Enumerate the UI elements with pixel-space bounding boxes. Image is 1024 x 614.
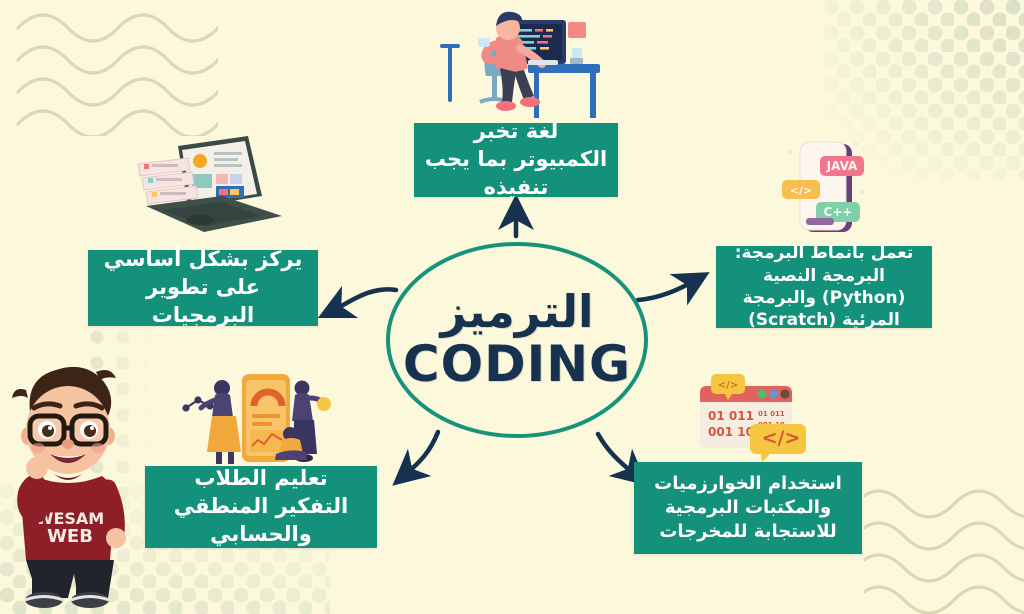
arrow-to-bottom-left: [406, 432, 438, 474]
arrow-to-left: [334, 289, 396, 310]
node-label-top[interactable]: لغة تخبر الكمبيوتر بما يجب تنفيذه: [414, 123, 618, 197]
tag-java: JAVA: [820, 156, 864, 176]
arrow-to-bottom-right: [598, 434, 634, 474]
infographic-canvas: الترميز CODING لغة تخبر الكمبيوتر بما يج…: [0, 0, 1024, 614]
binary-code-window-illustration: 01 011 001 10 01 011 001 10 </> </>: [686, 370, 816, 462]
svg-text:001 10: 001 10: [708, 425, 754, 439]
center-node-coding: الترميز CODING: [386, 242, 648, 438]
svg-text:WEB: WEB: [47, 526, 93, 547]
svg-text:</>: </>: [790, 184, 812, 197]
center-title-arabic: الترميز: [441, 289, 594, 334]
svg-text:JAVA: JAVA: [826, 159, 858, 173]
svg-text:01 011: 01 011: [758, 410, 785, 418]
node-label-right[interactable]: تعمل بأنماط البرمجة: البرمجة النصية (Pyt…: [716, 246, 932, 328]
programming-languages-card-illustration: JAVA </> C++: [776, 136, 876, 244]
svg-text:</>: </>: [718, 380, 738, 391]
cartoon-boy-mascot: WESAM WEB: [4, 356, 134, 608]
code-badge-large: </>: [750, 424, 806, 462]
node-label-bottom-left[interactable]: تعليم الطلاب التفكير المنطقي والحسابي: [145, 466, 377, 548]
people-analytics-phone-illustration: [182, 364, 342, 472]
svg-text:C++: C++: [824, 205, 853, 219]
tag-code: </>: [782, 180, 820, 199]
arrow-to-right: [638, 281, 694, 300]
isometric-laptop-illustration: [122, 134, 292, 244]
node-label-bottom-right[interactable]: استخدام الخوارزميات والمكتبات البرمجية ل…: [634, 462, 862, 554]
person-coding-at-desk-illustration: [430, 2, 610, 126]
svg-text:01 011: 01 011: [708, 409, 754, 423]
center-title-english: CODING: [403, 338, 631, 391]
node-label-left[interactable]: يركز بشكل أساسي على تطوير البرمجيات: [88, 250, 318, 326]
svg-text:</>: </>: [762, 427, 801, 449]
